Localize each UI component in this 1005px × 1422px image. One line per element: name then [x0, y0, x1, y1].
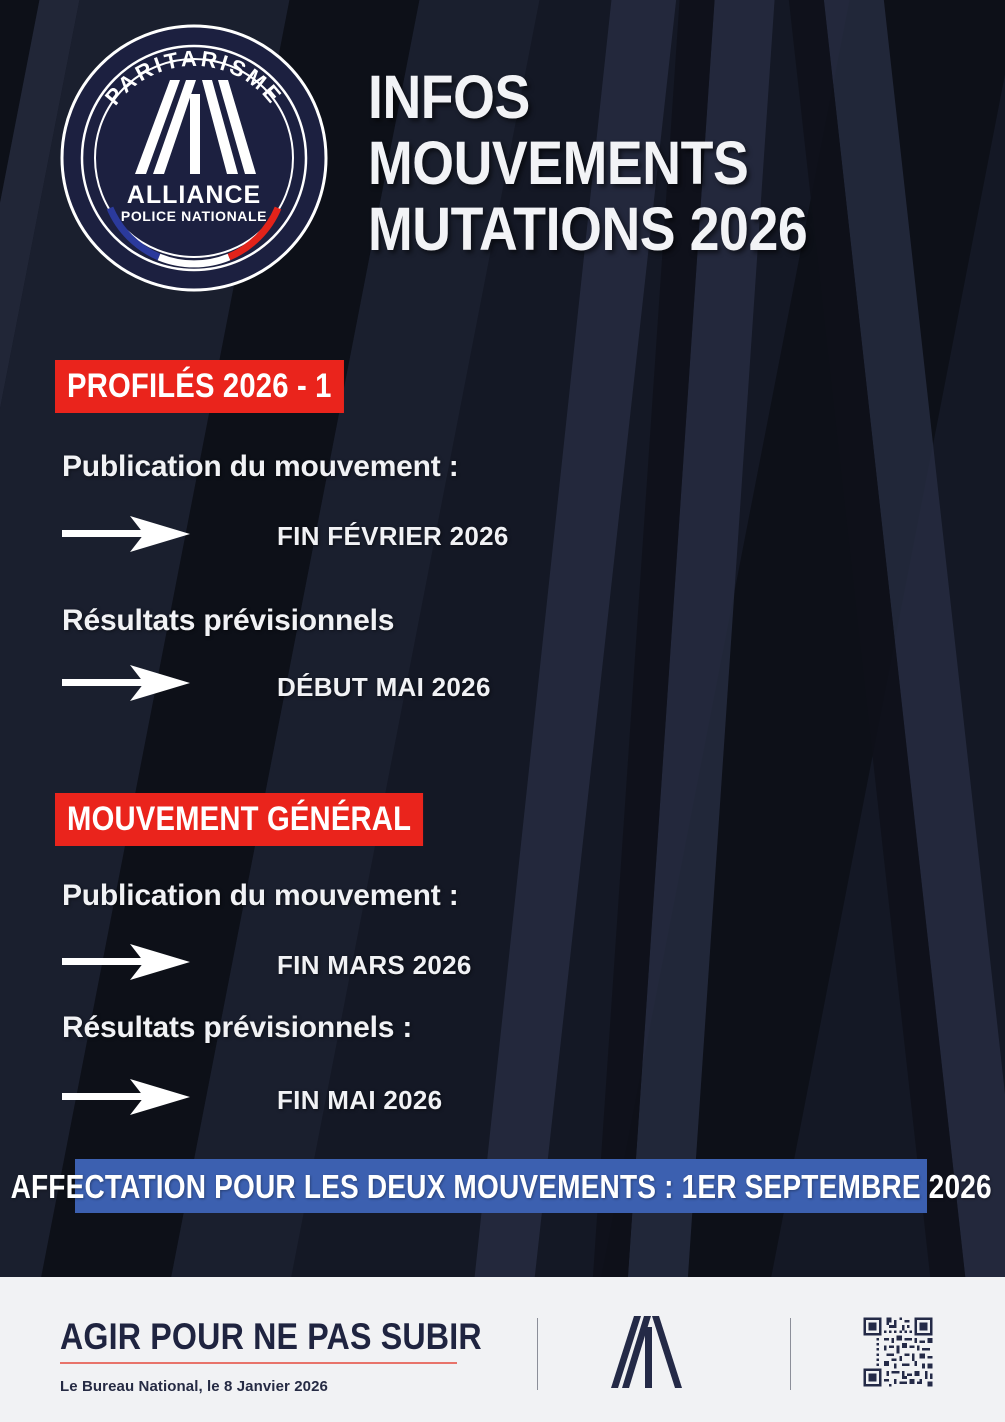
arrow-icon [62, 512, 192, 556]
arrow-icon [62, 940, 192, 984]
arrow-icon [62, 1075, 192, 1119]
qr-code-icon[interactable] [861, 1315, 935, 1389]
section-0-row-0-label: Publication du mouvement : [62, 450, 459, 484]
alliance-logo: PARITARISME ALLIANCE POLICE NATIONALE [58, 22, 330, 294]
footer-date: Le Bureau National, le 8 Janvier 2026 [60, 1378, 328, 1395]
badge-label: MOUVEMENT GÉNÉRAL [55, 793, 423, 846]
footer-slogan-underline [60, 1362, 457, 1364]
section-0-row-1-value: DÉBUT MAI 2026 [277, 672, 491, 702]
poster-root: PARITARISME ALLIANCE POLICE NATIONALE IN… [0, 0, 1005, 1422]
badge-label: PROFILÉS 2026 - 1 [55, 360, 344, 413]
arrow-icon [62, 661, 192, 705]
logo-subtitle: POLICE NATIONALE [121, 208, 267, 224]
section-1-row-0-value: FIN MARS 2026 [277, 950, 472, 980]
poster-header: PARITARISME ALLIANCE POLICE NATIONALE IN… [0, 0, 1005, 320]
section-1-row-1-label: Résultats prévisionnels : [62, 1011, 412, 1045]
section-0-row-1-label: Résultats prévisionnels [62, 604, 394, 638]
title-line-3: MUTATIONS 2026 [368, 196, 896, 262]
title-line-2: MOUVEMENTS [368, 130, 896, 196]
footer-divider [537, 1318, 538, 1390]
section-1-row-1-value: FIN MAI 2026 [277, 1085, 442, 1115]
logo-name: ALLIANCE [127, 181, 261, 209]
section-1-row-0-label: Publication du mouvement : [62, 879, 459, 913]
affectation-banner: AFFECTATION POUR LES DEUX MOUVEMENTS : 1… [75, 1159, 927, 1213]
section-0-row-0-value: FIN FÉVRIER 2026 [277, 521, 509, 551]
section-badge-profiles: PROFILÉS 2026 - 1 [55, 360, 391, 413]
section-badge-mouvement-general: MOUVEMENT GÉNÉRAL [55, 793, 483, 846]
footer-slogan: AGIR POUR NE PAS SUBIR [60, 1318, 482, 1355]
page-title: INFOS MOUVEMENTS MUTATIONS 2026 [368, 64, 968, 262]
title-line-1: INFOS [368, 64, 896, 130]
footer-divider [790, 1318, 791, 1390]
affectation-banner-text: AFFECTATION POUR LES DEUX MOUVEMENTS : 1… [10, 1170, 991, 1203]
alliance-a-logo-icon [608, 1314, 686, 1390]
